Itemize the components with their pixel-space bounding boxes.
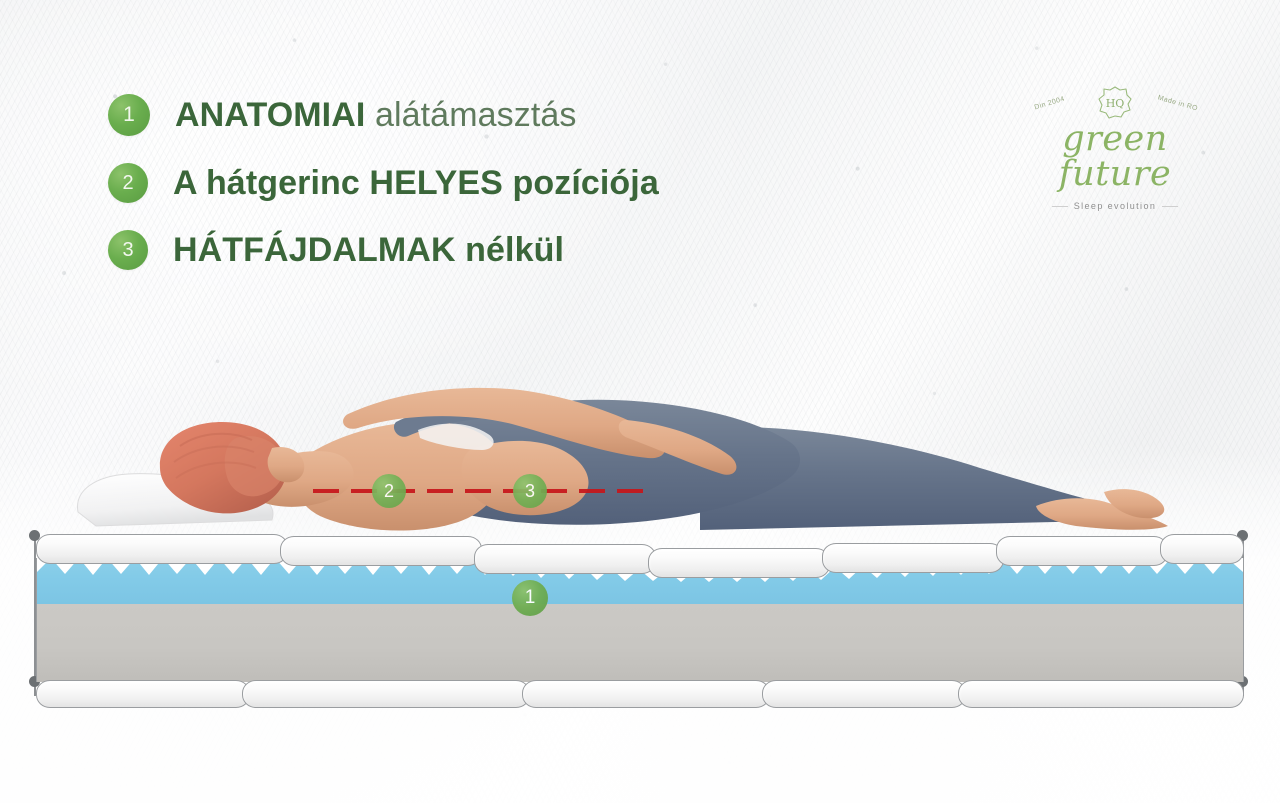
spine-marker-2: 2 bbox=[372, 474, 406, 508]
quilt-segment bbox=[822, 543, 1004, 573]
svg-text:HQ: HQ bbox=[1106, 97, 1125, 110]
logo-seal-row: Din 2004 HQ Made in RO bbox=[1026, 84, 1204, 124]
feature-item-1: 1 ANATOMIAI alátámasztás bbox=[108, 94, 659, 136]
feature-text-2-bold: A hátgerinc HELYES pozíciója bbox=[173, 164, 659, 202]
hq-seal-icon: HQ bbox=[1097, 85, 1133, 121]
feature-badge-2: 2 bbox=[108, 163, 148, 203]
feature-text-3-bold: HÁTFÁJDALMAK nélkül bbox=[173, 231, 564, 269]
mattress-bottom-quilt-cover bbox=[36, 680, 1242, 706]
feature-text-1-light: alátámasztás bbox=[365, 96, 576, 134]
spine-alignment-line bbox=[313, 489, 645, 493]
quilt-segment bbox=[280, 536, 482, 566]
quilt-segment bbox=[762, 680, 966, 708]
feature-list: 1 ANATOMIAI alátámasztás 2 A hátgerinc H… bbox=[108, 94, 659, 297]
logo-tagline: Sleep evolution bbox=[1070, 201, 1161, 211]
feature-text-1-bold: ANATOMIAI bbox=[175, 96, 365, 134]
infographic-canvas: 1 ANATOMIAI alátámasztás 2 A hátgerinc H… bbox=[0, 0, 1280, 803]
feature-badge-3: 3 bbox=[108, 230, 148, 270]
logo-wordmark: green future bbox=[1026, 122, 1204, 192]
logo-made-in-text: Made in RO bbox=[1156, 94, 1198, 112]
mattress-top-quilt-cover bbox=[36, 534, 1242, 562]
mattress-core-layer bbox=[36, 604, 1244, 682]
brand-logo: Din 2004 HQ Made in RO green future Slee… bbox=[1026, 84, 1204, 214]
feature-item-3: 3 HÁTFÁJDALMAK nélkül bbox=[108, 230, 659, 270]
spine-marker-3: 3 bbox=[513, 474, 547, 508]
quilt-segment bbox=[1160, 534, 1244, 564]
quilt-segment bbox=[36, 534, 288, 564]
quilt-segment bbox=[522, 680, 770, 708]
quilt-segment bbox=[648, 548, 830, 578]
quilt-segment bbox=[36, 680, 250, 708]
feature-text-2: A hátgerinc HELYES pozíciója bbox=[173, 164, 659, 203]
quilt-segment bbox=[242, 680, 530, 708]
feature-badge-1: 1 bbox=[108, 94, 150, 136]
mattress-marker-1: 1 bbox=[512, 580, 548, 616]
logo-since-text: Din 2004 bbox=[1034, 96, 1066, 112]
quilt-segment bbox=[996, 536, 1168, 566]
feature-item-2: 2 A hátgerinc HELYES pozíciója bbox=[108, 163, 659, 203]
feature-text-3: HÁTFÁJDALMAK nélkül bbox=[173, 231, 564, 270]
mattress-cross-section bbox=[34, 528, 1244, 710]
feature-text-1: ANATOMIAI alátámasztás bbox=[175, 96, 576, 135]
quilt-segment bbox=[474, 544, 656, 574]
quilt-segment bbox=[958, 680, 1244, 708]
